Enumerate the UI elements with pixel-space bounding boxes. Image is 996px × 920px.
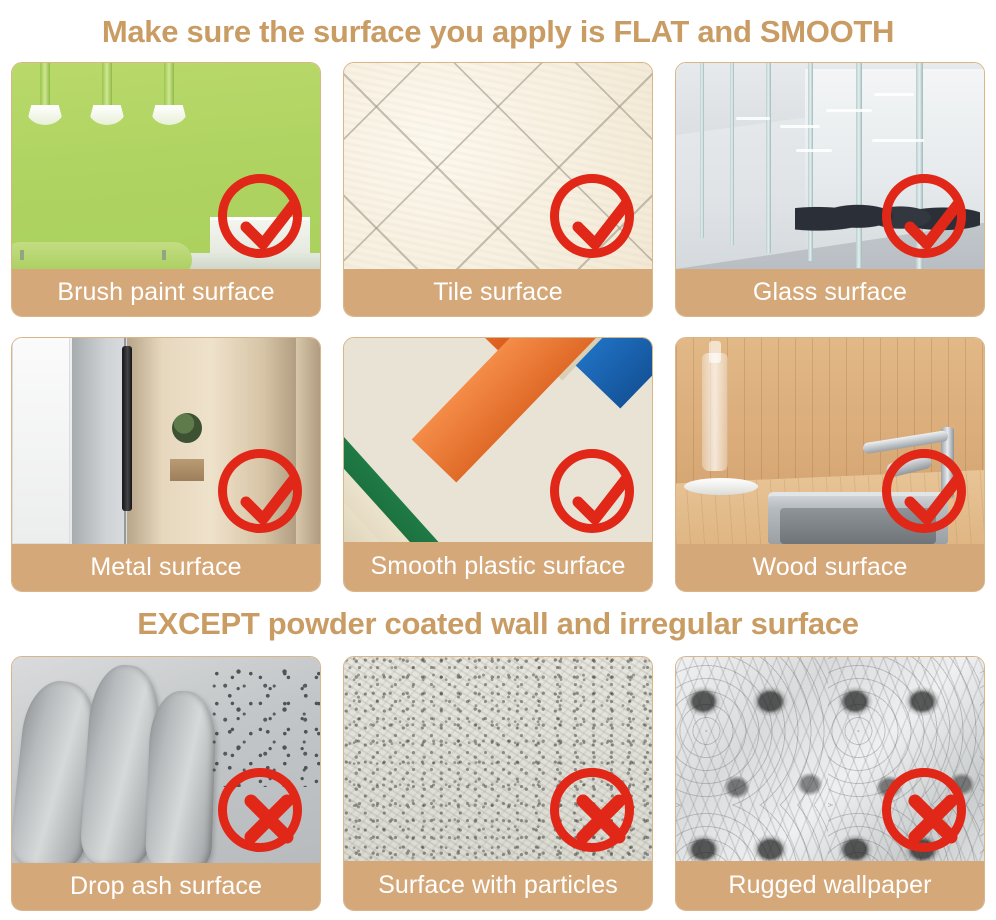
card-caption: Brush paint surface <box>12 269 320 316</box>
card-caption: Tile surface <box>344 269 652 316</box>
card-brush-paint-surface[interactable]: Brush paint surface <box>11 62 321 317</box>
card-tile-surface[interactable]: Tile surface <box>343 62 653 317</box>
card-metal-surface[interactable]: Metal surface <box>11 337 321 592</box>
infographic-page: Make sure the surface you apply is FLAT … <box>0 0 996 920</box>
card-glass-surface[interactable]: Glass surface <box>675 62 985 317</box>
cross-icon <box>882 768 966 852</box>
check-icon <box>218 449 302 533</box>
card-caption: Drop ash surface <box>12 863 320 910</box>
check-icon <box>218 174 302 258</box>
card-caption: Wood surface <box>676 544 984 591</box>
check-icon <box>550 449 634 533</box>
card-rugged-wallpaper[interactable]: Rugged wallpaper <box>675 656 985 911</box>
card-surface-with-particles[interactable]: Surface with particles <box>343 656 653 911</box>
surface-row-2: Metal surface Smooth plastic surface <box>0 337 996 592</box>
cross-icon <box>218 768 302 852</box>
check-icon <box>882 174 966 258</box>
check-icon <box>882 449 966 533</box>
card-caption: Glass surface <box>676 269 984 316</box>
card-drop-ash-surface[interactable]: Drop ash surface <box>11 656 321 911</box>
surface-row-1: Brush paint surface Tile surface <box>0 62 996 317</box>
page-title-top: Make sure the surface you apply is FLAT … <box>0 0 996 62</box>
card-wood-surface[interactable]: Wood surface <box>675 337 985 592</box>
check-icon <box>550 174 634 258</box>
surface-row-3: Drop ash surface Surface with particles … <box>0 656 996 911</box>
card-caption: Metal surface <box>12 544 320 591</box>
page-title-bottom: EXCEPT powder coated wall and irregular … <box>0 592 996 656</box>
card-smooth-plastic-surface[interactable]: Smooth plastic surface <box>343 337 653 592</box>
cross-icon <box>550 768 634 852</box>
